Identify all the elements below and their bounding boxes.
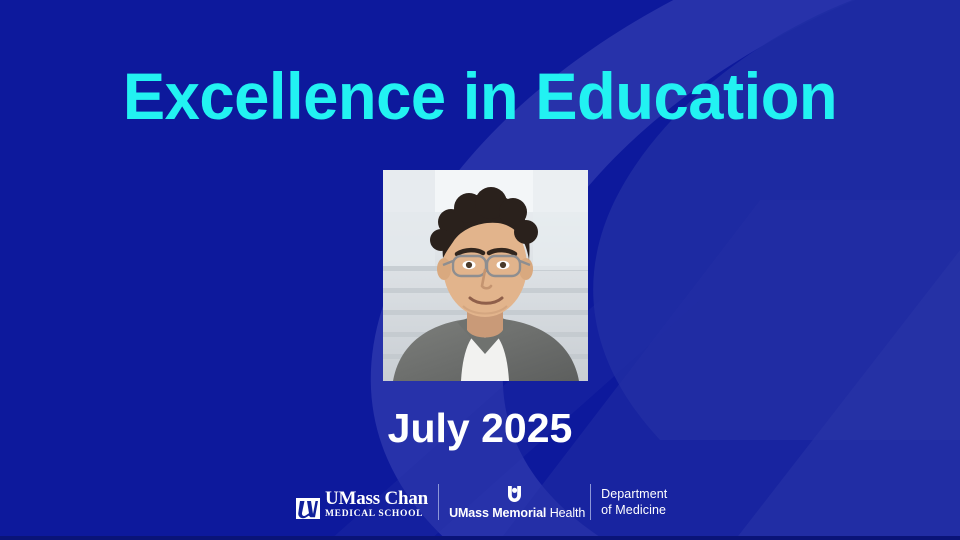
logo-divider-2 (590, 484, 591, 520)
umass-memorial-name-light: Health (550, 506, 586, 520)
logo-department-of-medicine: Department of Medicine (601, 470, 686, 525)
speaker-portrait-photo (383, 170, 588, 381)
slide-date: July 2025 (0, 405, 960, 452)
umass-memorial-name-bold: UMass Memorial (449, 506, 546, 520)
department-line-1: Department (601, 486, 667, 502)
logo-umass-chan-medical-school: UMass Chan MEDICAL SCHOOL (296, 471, 428, 525)
umass-chan-wordmark: UMass Chan (325, 489, 428, 508)
page-title: Excellence in Education (19, 62, 941, 131)
department-line-2: of Medicine (601, 502, 667, 518)
umass-chan-u-monogram-icon (296, 498, 320, 519)
umass-memorial-wordmark: UMass Memorial Health (449, 507, 580, 520)
logo-divider-1 (438, 484, 439, 520)
slide-bottom-edge (0, 536, 960, 540)
umass-memorial-tulip-icon (506, 484, 523, 504)
umass-chan-subtitle: MEDICAL SCHOOL (325, 510, 428, 520)
logo-umass-memorial-health: UMass Memorial Health (449, 471, 580, 525)
logo-bar: UMass Chan MEDICAL SCHOOL UMass Memorial… (296, 477, 686, 525)
presentation-slide: Excellence in Education (0, 0, 960, 540)
